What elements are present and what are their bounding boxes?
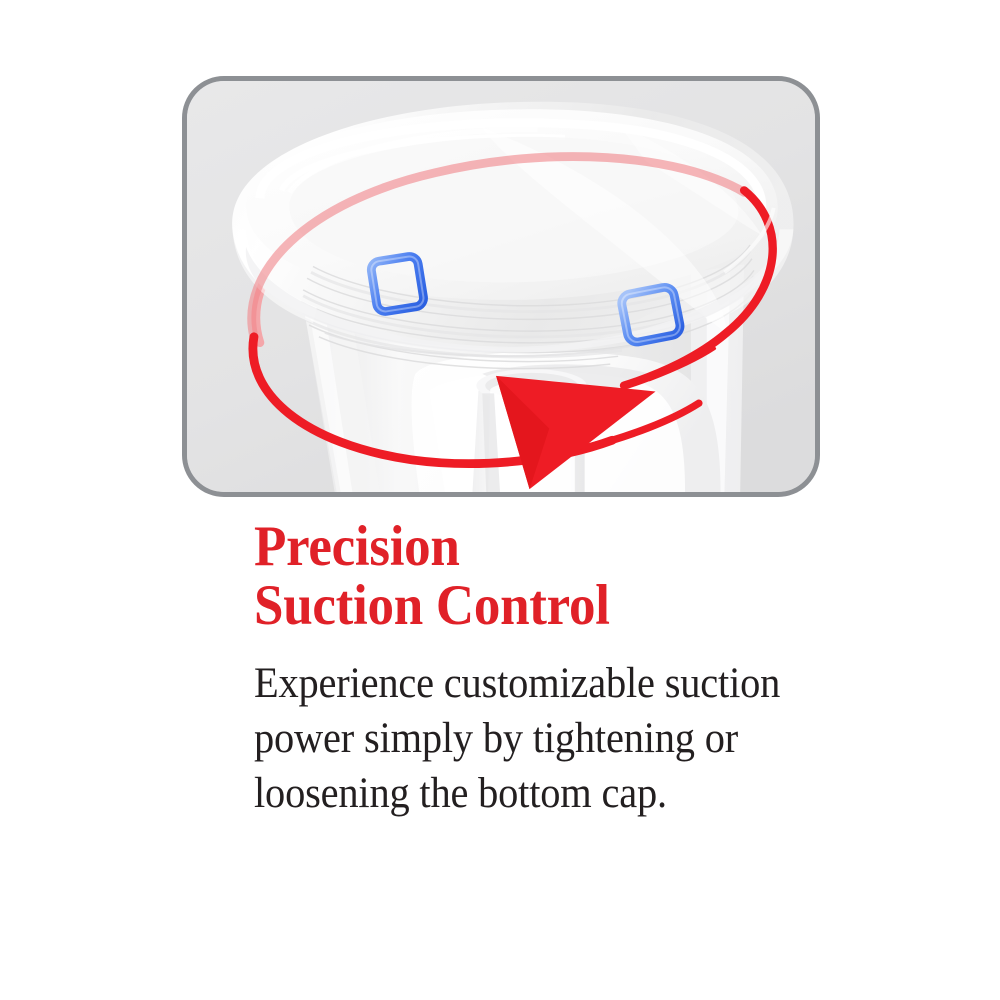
feature-description: Experience customizable suction power si… (254, 657, 799, 821)
product-illustration-frame (182, 76, 820, 497)
bottle-cap-rotation-illustration (187, 81, 815, 492)
feature-headline: Precision Suction Control (254, 518, 775, 635)
caption-block: Precision Suction Control Experience cus… (254, 518, 814, 821)
